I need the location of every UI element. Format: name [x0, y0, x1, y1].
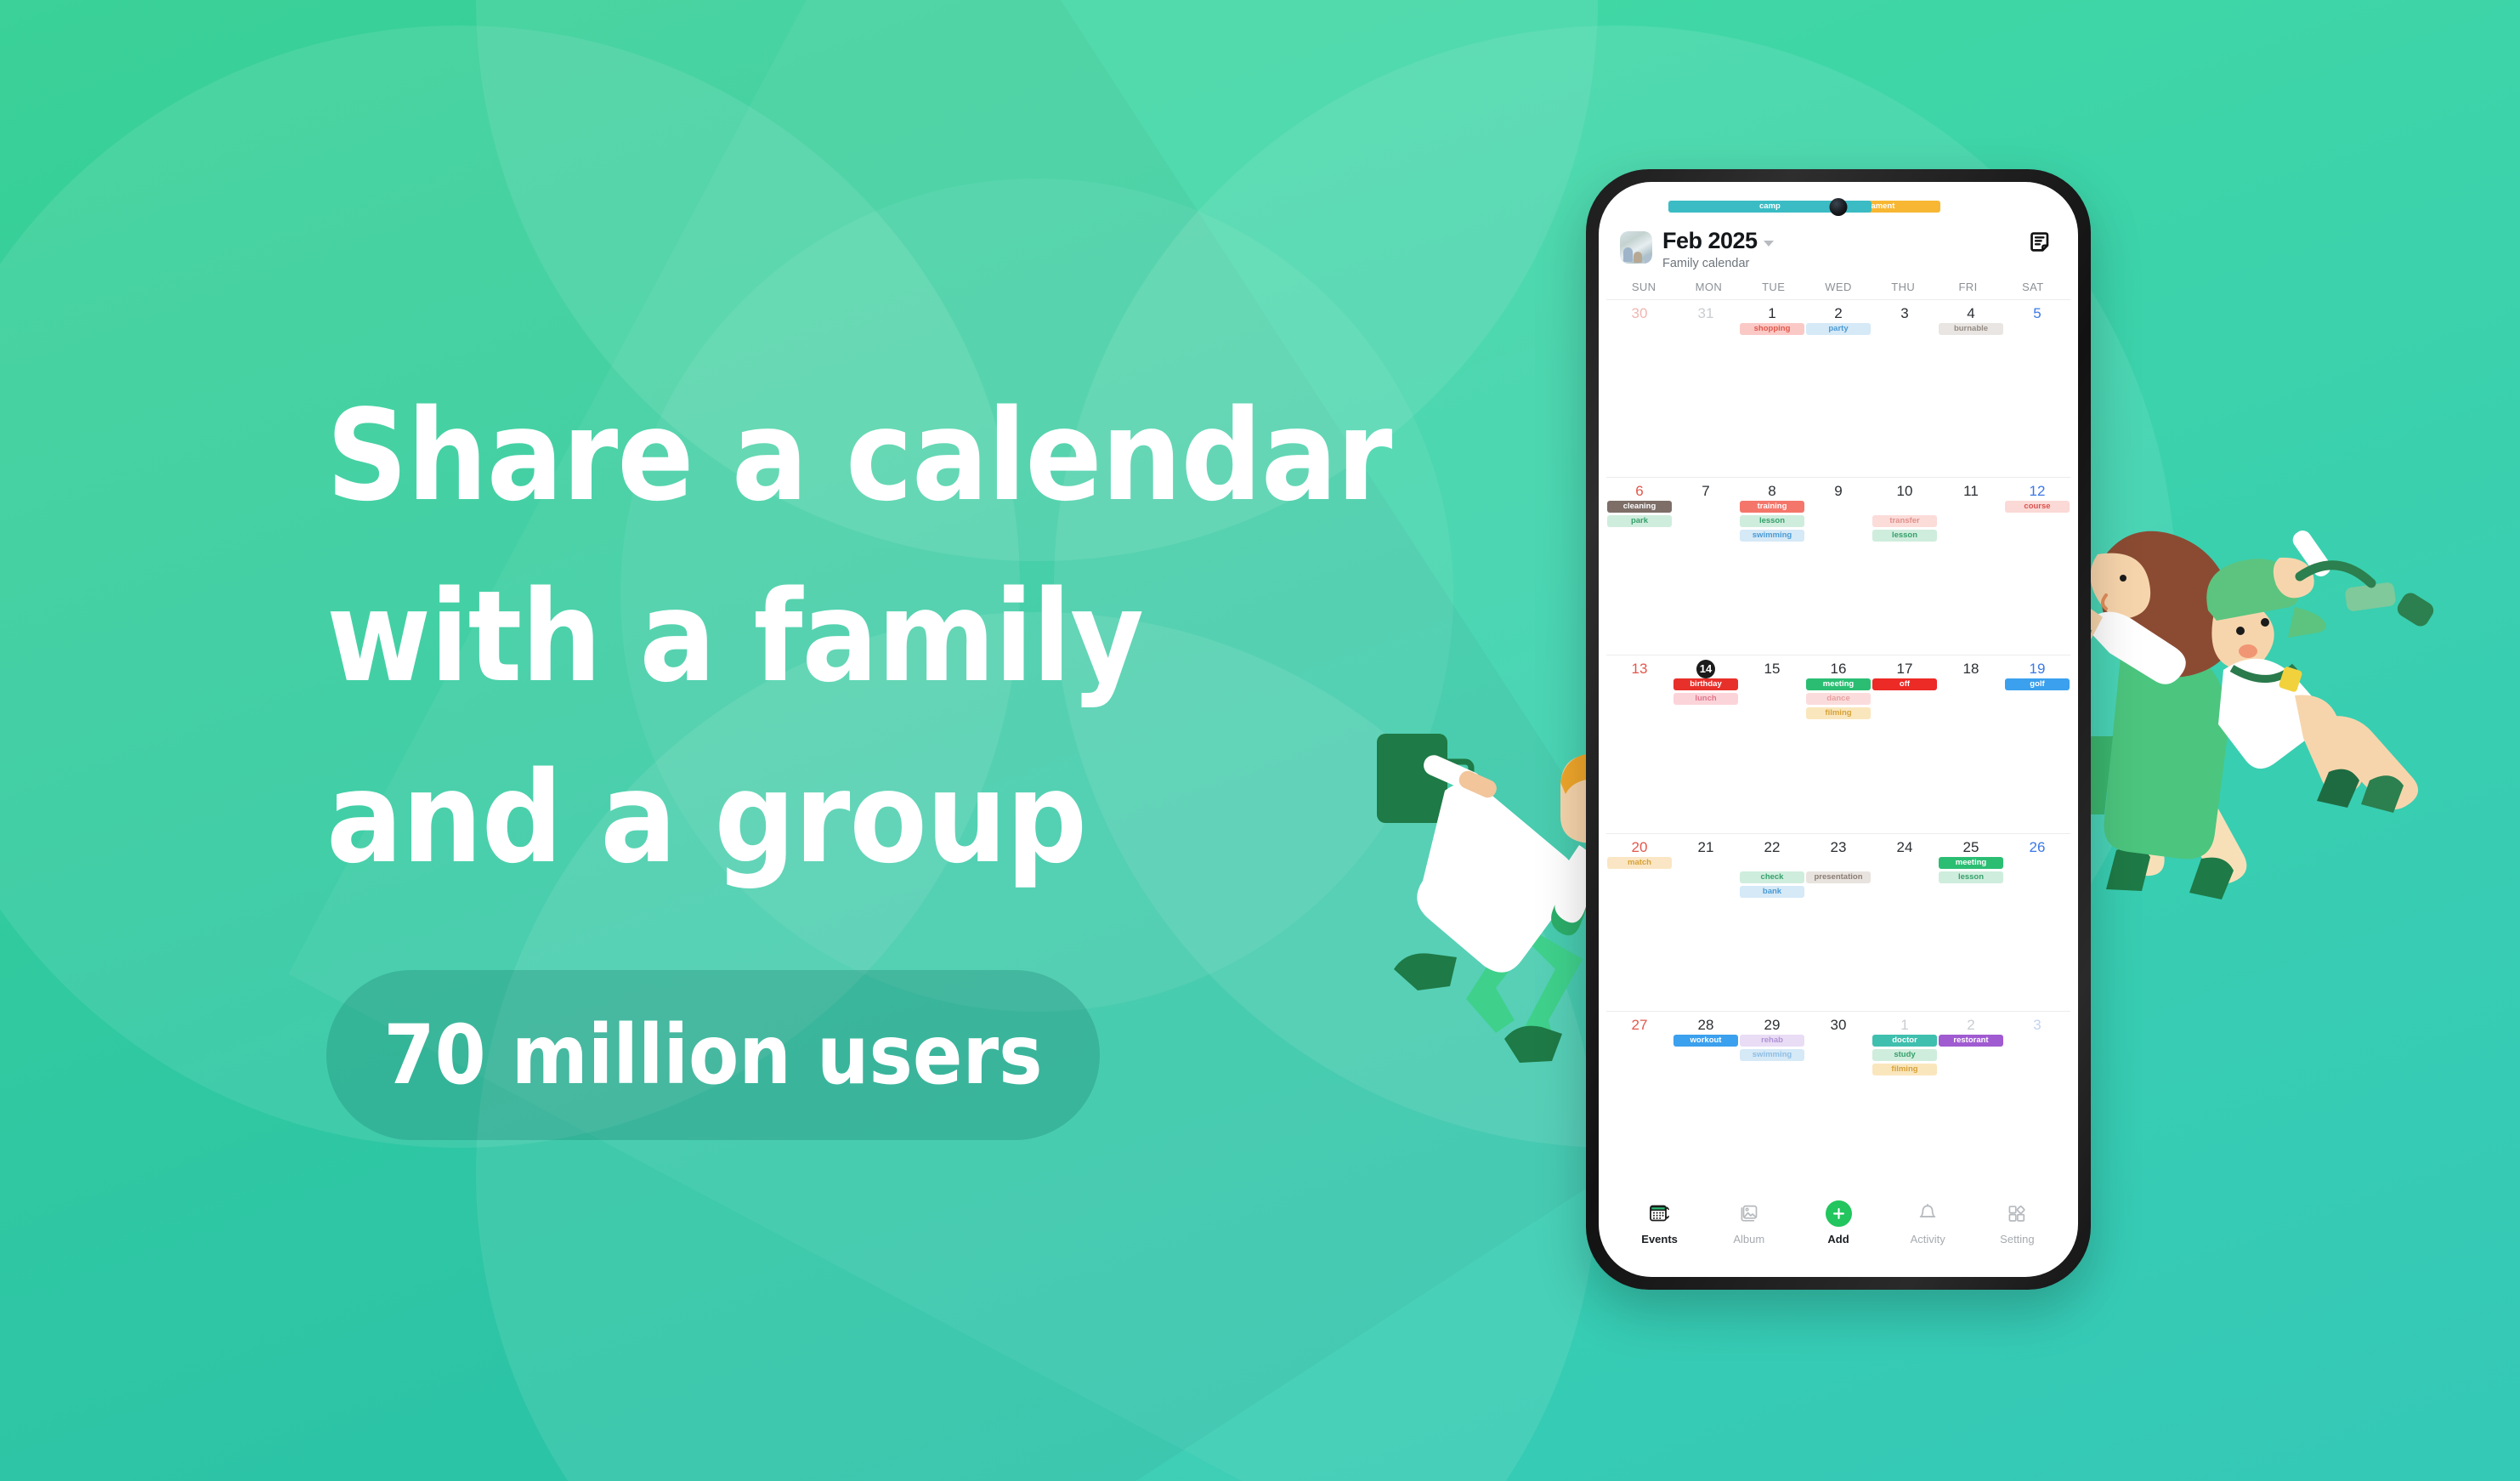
calendar-day-cell[interactable]: 31: [1673, 304, 1739, 477]
event-stack: [1673, 857, 1739, 871]
plus-icon: [1826, 1200, 1852, 1226]
day-number: 28: [1698, 1016, 1714, 1035]
event-stack: off: [1872, 678, 1938, 693]
day-number: 1: [1768, 304, 1775, 323]
memo-icon[interactable]: [2028, 230, 2057, 258]
calendar-day-cell[interactable]: 27: [1606, 1016, 1673, 1189]
event-stack: match: [1606, 857, 1673, 871]
calendar-day-cell[interactable]: 5: [2004, 304, 2070, 477]
event-chip[interactable]: course: [2005, 501, 2070, 513]
event-chip[interactable]: study: [1872, 1049, 1937, 1061]
weekday-thu: THU: [1871, 281, 1935, 293]
calendar-day-cell[interactable]: 17off: [1872, 660, 1938, 832]
month-selector[interactable]: Feb 2025: [1662, 228, 2028, 254]
event-chip[interactable]: lesson: [1740, 515, 1804, 527]
event-chip[interactable]: dance: [1806, 693, 1871, 705]
event-stack: traininglessonswimming: [1739, 501, 1805, 544]
calendar-week: 1314birthdaylunch1516meetingdancefilming…: [1606, 655, 2070, 832]
camera-punch-hole: [1830, 198, 1848, 216]
event-chip[interactable]: check: [1740, 871, 1804, 883]
weekday-sun: SUN: [1611, 281, 1676, 293]
event-stack: meetinglesson: [1938, 857, 2004, 886]
day-number: 12: [2030, 482, 2046, 501]
day-number: 4: [1967, 304, 1974, 323]
event-stack: golf: [2004, 678, 2070, 693]
calendar-day-cell[interactable]: 6cleaningpark: [1606, 482, 1673, 655]
event-chip[interactable]: bank: [1740, 886, 1804, 898]
day-number: 9: [1834, 482, 1842, 501]
event-chip[interactable]: birthday: [1673, 678, 1738, 690]
calendar-day-cell[interactable]: 7: [1673, 482, 1739, 655]
day-number: 3: [1900, 304, 1908, 323]
event-chip[interactable]: cleaning: [1607, 501, 1672, 513]
headline-line-3: and a group: [326, 728, 1431, 909]
calendar-icon: [1649, 1200, 1671, 1226]
event-chip[interactable]: transfer: [1872, 515, 1937, 527]
weekday-sat: SAT: [2001, 281, 2065, 293]
bottom-tabbar: EventsAlbumAddActivitySetting: [1606, 1189, 2070, 1277]
headline-line-1: Share a calendar: [326, 366, 1431, 547]
day-number: 5: [2033, 304, 2041, 323]
weekday-header: SUNMONTUEWEDTHUFRISAT: [1606, 270, 2070, 299]
event-chip[interactable]: lesson: [1872, 530, 1937, 542]
phone-mockup: Feb 2025 Family calendar SUNMONTUEWEDTHU…: [1586, 169, 2091, 1290]
event-stack: burnable: [1938, 323, 2004, 338]
weekday-fri: FRI: [1935, 281, 2000, 293]
day-number: 23: [1831, 838, 1847, 857]
user-count-badge: 70 million users: [326, 970, 1100, 1140]
tab-label: Setting: [2000, 1233, 2034, 1246]
event-chip[interactable]: shopping: [1740, 323, 1804, 335]
tab-add[interactable]: Add: [1793, 1200, 1883, 1277]
calendar-day-cell[interactable]: 11: [1938, 482, 2004, 655]
avatar[interactable]: [1620, 231, 1652, 264]
calendar-day-cell[interactable]: 26: [2004, 838, 2070, 1011]
event-stack: [1805, 501, 1872, 515]
event-stack: shopping: [1739, 323, 1805, 338]
calendar-day-cell[interactable]: 24: [1872, 838, 1938, 1011]
weekday-wed: WED: [1806, 281, 1871, 293]
event-chip[interactable]: training: [1740, 501, 1804, 513]
event-chip[interactable]: swimming: [1740, 530, 1804, 542]
event-chip[interactable]: workout: [1673, 1035, 1738, 1047]
calendar-day-cell[interactable]: 13: [1606, 660, 1673, 832]
calendar-day-cell[interactable]: 16meetingdancefilming: [1805, 660, 1872, 832]
header-text: Feb 2025 Family calendar: [1662, 228, 2028, 270]
event-stack: party: [1805, 323, 1872, 338]
calendar-name: Family calendar: [1662, 257, 2028, 270]
day-number: 17: [1897, 660, 1913, 678]
calendar-day-cell[interactable]: 15: [1739, 660, 1805, 832]
day-number: 10: [1897, 482, 1913, 501]
headline-line-2: with a family: [326, 547, 1431, 728]
month-title: Feb 2025: [1662, 228, 1758, 254]
calendar-app: Feb 2025 Family calendar SUNMONTUEWEDTHU…: [1599, 182, 2078, 1277]
tab-label: Add: [1827, 1233, 1849, 1246]
event-stack: checkbank: [1739, 857, 1805, 900]
tab-label: Album: [1733, 1233, 1764, 1246]
calendar-day-cell[interactable]: 20match: [1606, 838, 1673, 1011]
day-number: 30: [1831, 1016, 1847, 1035]
day-number: 2: [1834, 304, 1842, 323]
day-number: 3: [2033, 1016, 2041, 1035]
day-number: 14: [1696, 660, 1715, 678]
event-stack: course: [2004, 501, 2070, 515]
day-number: 24: [1897, 838, 1913, 857]
photo-icon: [1738, 1200, 1760, 1226]
calendar-day-cell[interactable]: 23presentation: [1805, 838, 1872, 1011]
app-header: Feb 2025 Family calendar: [1606, 182, 2070, 270]
day-number: 11: [1963, 482, 1979, 501]
weekday-tue: TUE: [1741, 281, 1806, 293]
event-chip[interactable]: meeting: [1806, 678, 1871, 690]
day-number: 29: [1764, 1016, 1781, 1035]
user-count-label: 70 million users: [384, 1007, 1043, 1103]
day-number: 1: [1900, 1016, 1908, 1035]
event-chip[interactable]: swimming: [1740, 1049, 1804, 1061]
event-stack: transferlesson: [1872, 501, 1938, 544]
event-chip[interactable]: doctor: [1872, 1035, 1937, 1047]
day-number: 26: [2030, 838, 2046, 857]
day-number: 27: [1632, 1016, 1648, 1035]
event-chip[interactable]: match: [1607, 857, 1672, 869]
day-number: 22: [1764, 838, 1781, 857]
event-stack: meetingdancefilming: [1805, 678, 1872, 722]
calendar-day-cell[interactable]: 1shopping: [1739, 304, 1805, 477]
day-number: 19: [2030, 660, 2046, 678]
calendar-day-cell[interactable]: 19golf: [2004, 660, 2070, 832]
calendar-week: 20match2122checkbank23presentation2425me…: [1606, 833, 2070, 1011]
calendar-day-cell[interactable]: 28workout: [1673, 1016, 1739, 1189]
event-chip[interactable]: filming: [1872, 1064, 1937, 1075]
day-number: 8: [1768, 482, 1775, 501]
calendar-day-cell[interactable]: 14birthdaylunch: [1673, 660, 1739, 832]
calendar-day-cell[interactable]: 10transferlesson: [1872, 482, 1938, 655]
event-chip[interactable]: lunch: [1673, 693, 1738, 705]
calendar-day-cell[interactable]: 12course: [2004, 482, 2070, 655]
calendar-day-cell[interactable]: 9: [1805, 482, 1872, 655]
calendar-day-cell[interactable]: 25meetinglesson: [1938, 838, 2004, 1011]
event-chip[interactable]: presentation: [1806, 871, 1871, 883]
calendar-day-cell[interactable]: 29rehabswimming: [1739, 1016, 1805, 1189]
day-number: 31: [1698, 304, 1714, 323]
event-stack: doctorstudyfilming: [1872, 1035, 1938, 1078]
event-chip[interactable]: golf: [2005, 678, 2070, 690]
day-number: 25: [1963, 838, 1979, 857]
calendar-day-cell[interactable]: 30: [1805, 1016, 1872, 1189]
calendar-day-cell[interactable]: 18: [1938, 660, 2004, 832]
hero-copy: Share a calendar with a family and a gro…: [326, 366, 1431, 1140]
weekday-mon: MON: [1676, 281, 1741, 293]
day-number: 18: [1963, 660, 1979, 678]
event-chip[interactable]: off: [1872, 678, 1937, 690]
day-number: 16: [1831, 660, 1847, 678]
day-number: 21: [1698, 838, 1714, 857]
calendar-week: 6cleaningpark78traininglessonswimming910…: [1606, 477, 2070, 655]
event-chip[interactable]: park: [1607, 515, 1672, 527]
event-chip[interactable]: meeting: [1939, 857, 2003, 869]
tab-label: Events: [1641, 1233, 1678, 1246]
event-chip[interactable]: rehab: [1740, 1035, 1804, 1047]
calendar-day-cell[interactable]: 8traininglessonswimming: [1739, 482, 1805, 655]
calendar-week: 2728workout29rehabswimming301doctorstudy…: [1606, 1011, 2070, 1189]
calendar-week: 30311shopping2party34burnable5: [1606, 299, 2070, 477]
event-chip[interactable]: restorant: [1939, 1035, 2003, 1047]
tab-activity[interactable]: Activity: [1883, 1200, 1973, 1277]
tab-setting[interactable]: Setting: [1973, 1200, 2062, 1277]
event-stack: workout: [1673, 1035, 1739, 1049]
calendar-grid: 30311shopping2party34burnable56cleaningp…: [1606, 299, 2070, 1189]
event-chip[interactable]: lesson: [1939, 871, 2003, 883]
day-number: 6: [1635, 482, 1643, 501]
calendar-day-cell[interactable]: 30: [1606, 304, 1673, 477]
phone-screen: Feb 2025 Family calendar SUNMONTUEWEDTHU…: [1599, 182, 2078, 1277]
chevron-down-icon: [1764, 241, 1774, 247]
event-stack: cleaningpark: [1606, 501, 1673, 530]
day-number: 2: [1967, 1016, 1974, 1035]
grid-icon: [2006, 1200, 2028, 1226]
event-stack: rehabswimming: [1739, 1035, 1805, 1064]
event-chip[interactable]: burnable: [1939, 323, 2003, 335]
calendar-day-cell[interactable]: 4burnable: [1938, 304, 2004, 477]
calendar-day-cell[interactable]: 2party: [1805, 304, 1872, 477]
day-number: 15: [1764, 660, 1781, 678]
tab-label: Activity: [1911, 1233, 1945, 1246]
day-number: 20: [1632, 838, 1648, 857]
add-button[interactable]: [1826, 1200, 1852, 1227]
day-number: 13: [1632, 660, 1648, 678]
day-number: 7: [1702, 482, 1709, 501]
event-stack: birthdaylunch: [1673, 678, 1739, 707]
event-chip[interactable]: party: [1806, 323, 1871, 335]
page-title: Share a calendar with a family and a gro…: [326, 366, 1431, 909]
day-number: 30: [1632, 304, 1648, 323]
calendar-day-cell[interactable]: 3: [1872, 304, 1938, 477]
tab-album[interactable]: Album: [1704, 1200, 1793, 1277]
event-chip[interactable]: filming: [1806, 707, 1871, 719]
event-stack: presentation: [1805, 857, 1872, 886]
bell-icon: [1917, 1200, 1939, 1226]
calendar-day-cell[interactable]: 3: [2004, 1016, 2070, 1189]
tab-events[interactable]: Events: [1615, 1200, 1704, 1277]
calendar-day-cell[interactable]: 2restorant: [1938, 1016, 2004, 1189]
calendar-day-cell[interactable]: 21: [1673, 838, 1739, 1011]
event-stack: restorant: [1938, 1035, 2004, 1049]
calendar-day-cell[interactable]: 22checkbank: [1739, 838, 1805, 1011]
calendar-day-cell[interactable]: 1doctorstudyfilming: [1872, 1016, 1938, 1189]
